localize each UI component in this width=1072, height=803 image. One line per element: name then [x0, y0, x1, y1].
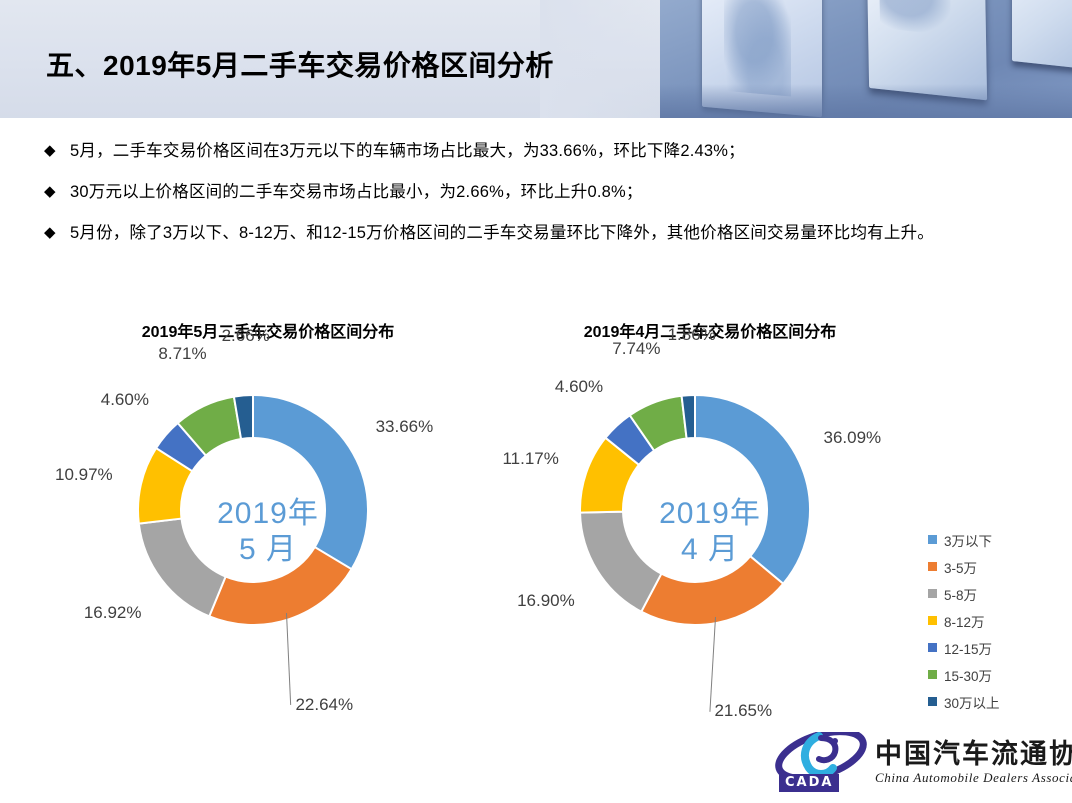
legend-label: 3-5万 — [944, 557, 977, 577]
donut-center-line1: 2019年 — [68, 496, 468, 532]
data-label-3-5万: 21.65% — [714, 701, 772, 721]
list-item: ◆ 5月，二手车交易价格区间在3万元以下的车辆市场占比最大，为33.66%，环比… — [44, 138, 1034, 165]
data-label-3万以下: 33.66% — [376, 417, 434, 437]
donut-center-line2: 5 月 — [68, 532, 468, 568]
legend-item-0[interactable]: 3万以下 — [928, 526, 1000, 553]
cube-floor-shadow — [660, 84, 1072, 118]
diamond-bullet-icon: ◆ — [44, 220, 70, 246]
donut-center-label-april: 2019年 4 月 — [510, 496, 910, 568]
legend-item-6[interactable]: 30万以上 — [928, 688, 1000, 715]
legend-item-1[interactable]: 3-5万 — [928, 553, 1000, 580]
donut-chart-may[interactable]: 2019年 5 月 33.66%22.64%16.92%10.97%4.60%8… — [68, 370, 468, 730]
legend-label: 3万以下 — [944, 530, 992, 550]
legend-swatch-icon — [928, 589, 937, 598]
list-item: ◆ 5月份，除了3万以下、8-12万、和12-15万价格区间的二手车交易量环比下… — [44, 220, 1034, 247]
diamond-bullet-icon: ◆ — [44, 179, 70, 205]
cube-shape-3 — [1012, 0, 1072, 71]
data-label-30万以上: 2.66% — [222, 326, 270, 346]
legend-swatch-icon — [928, 562, 937, 571]
data-label-8-12万: 11.17% — [502, 449, 558, 469]
diamond-bullet-icon: ◆ — [44, 138, 70, 164]
legend-swatch-icon — [928, 535, 937, 544]
cada-name-cn: 中国汽车流通协会 — [875, 732, 1072, 771]
data-label-15-30万: 7.74% — [612, 339, 660, 359]
data-label-12-15万: 4.60% — [101, 390, 149, 410]
data-label-8-12万: 10.97% — [55, 465, 113, 485]
legend-label: 5-8万 — [944, 584, 977, 604]
legend-label: 15-30万 — [944, 665, 992, 685]
donut-chart-april[interactable]: 2019年 4 月 36.09%21.65%16.90%11.17%4.60%7… — [510, 370, 910, 730]
chart-legend: 3万以下3-5万5-8万8-12万12-15万15-30万30万以上 — [928, 526, 1000, 715]
cada-abbr: CADA — [779, 774, 839, 792]
bullet-text: 5月，二手车交易价格区间在3万元以下的车辆市场占比最大，为33.66%，环比下降… — [70, 138, 745, 165]
donut-center-label-may: 2019年 5 月 — [68, 496, 468, 568]
data-label-5-8万: 16.92% — [84, 603, 142, 623]
legend-item-2[interactable]: 5-8万 — [928, 580, 1000, 607]
header-gradient-fade — [540, 0, 660, 118]
donut-center-line2: 4 月 — [510, 532, 910, 568]
header-decorative-cubes-image — [660, 0, 1072, 118]
legend-item-5[interactable]: 15-30万 — [928, 661, 1000, 688]
data-label-30万以上: 1.86% — [668, 325, 716, 345]
chart-may: 2019年5月二手车交易价格区间分布 2019年 5 月 33.66%22.64… — [68, 318, 468, 730]
list-item: ◆ 30万元以上价格区间的二手车交易市场占比最小，为2.66%，环比上升0.8%… — [44, 179, 1034, 206]
slide-header: 五、2019年5月二手车交易价格区间分析 — [0, 0, 1072, 118]
data-label-5-8万: 16.90% — [517, 591, 575, 611]
legend-swatch-icon — [928, 616, 937, 625]
legend-item-4[interactable]: 12-15万 — [928, 634, 1000, 661]
bullet-list: ◆ 5月，二手车交易价格区间在3万元以下的车辆市场占比最大，为33.66%，环比… — [44, 138, 1034, 261]
legend-swatch-icon — [928, 697, 937, 706]
chart-april: 2019年4月二手车交易价格区间分布 2019年 4 月 36.09%21.65… — [510, 318, 910, 730]
donut-center-line1: 2019年 — [510, 496, 910, 532]
cada-logo: CADA 中国汽车流通协会 China Automobile Dealers A… — [775, 730, 1060, 796]
cada-name-en: China Automobile Dealers Association — [875, 770, 1072, 786]
legend-label: 12-15万 — [944, 638, 992, 658]
data-label-3万以下: 36.09% — [823, 428, 881, 448]
bullet-text: 30万元以上价格区间的二手车交易市场占比最小，为2.66%，环比上升0.8%； — [70, 179, 643, 206]
legend-label: 30万以上 — [944, 692, 1000, 712]
data-label-15-30万: 8.71% — [158, 344, 206, 364]
bullet-text: 5月份，除了3万以下、8-12万、和12-15万价格区间的二手车交易量环比下降外… — [70, 220, 934, 247]
page-title: 五、2019年5月二手车交易价格区间分析 — [46, 44, 554, 84]
data-label-3-5万: 22.64% — [295, 695, 353, 715]
legend-label: 8-12万 — [944, 611, 985, 631]
legend-item-3[interactable]: 8-12万 — [928, 607, 1000, 634]
legend-swatch-icon — [928, 643, 937, 652]
cada-swoosh-icon — [775, 732, 867, 778]
data-label-12-15万: 4.60% — [555, 377, 603, 397]
legend-swatch-icon — [928, 670, 937, 679]
